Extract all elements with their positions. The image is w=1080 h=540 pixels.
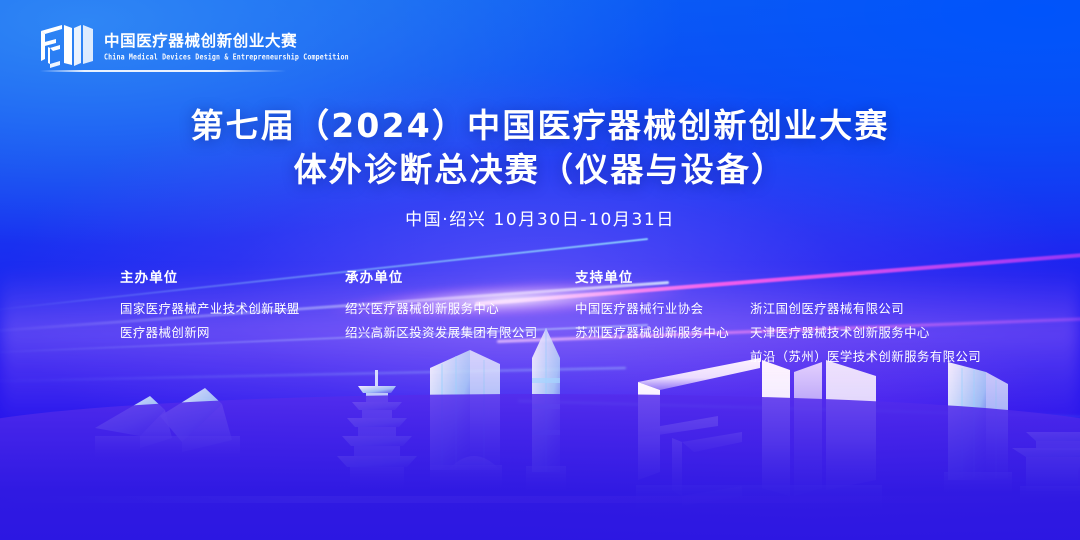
organizer-item: 绍兴医疗器械创新服务中心 [345,297,575,321]
organizer-heading: 承办单位 [345,266,575,286]
hero-titles: 第七届（2024）中国医疗器械创新创业大赛 体外诊断总决赛（仪器与设备） 中国·… [0,104,1080,230]
open-book-door-logo-icon [40,20,94,70]
organizer-column-supporter-extra: 支持单位 浙江国创医疗器械有限公司 天津医疗器械技术创新服务中心 前沿（苏州）医… [750,266,981,369]
brand-name-en: China Medical Devices Design & Entrepren… [104,52,349,62]
event-poster: 中国医疗器械创新创业大赛 China Medical Devices Desig… [0,0,1080,540]
organizer-item: 前沿（苏州）医学技术创新服务有限公司 [750,345,981,369]
organizer-item: 苏州医疗器械创新服务中心 [575,321,750,345]
hero-title-line2: 体外诊断总决赛（仪器与设备） [0,148,1080,192]
brand-name-cn: 中国医疗器械创新创业大赛 [104,29,349,51]
organizer-item: 绍兴高新区投资发展集团有限公司 [345,321,575,345]
organizer-item: 浙江国创医疗器械有限公司 [750,297,981,321]
brand-logo: 中国医疗器械创新创业大赛 China Medical Devices Desig… [40,20,349,70]
hero-location-date: 中国·绍兴 10月30日-10月31日 [0,205,1080,230]
organizer-columns: 主办单位 国家医疗器械产业技术创新联盟 医疗器械创新网 承办单位 绍兴医疗器械创… [0,266,1080,369]
organizer-heading: 主办单位 [120,266,345,286]
organizer-item: 国家医疗器械产业技术创新联盟 [120,297,345,321]
organizer-item: 天津医疗器械技术创新服务中心 [750,321,981,345]
organizer-column-coorganizer: 承办单位 绍兴医疗器械创新服务中心 绍兴高新区投资发展集团有限公司 [345,266,575,369]
organizer-item: 中国医疗器械行业协会 [575,297,750,321]
organizer-heading: 支持单位 [575,266,750,286]
organizer-column-host: 主办单位 国家医疗器械产业技术创新联盟 医疗器械创新网 [120,266,345,369]
foreground-ground [0,394,1080,540]
organizer-column-supporter: 支持单位 中国医疗器械行业协会 苏州医疗器械创新服务中心 [575,266,750,369]
brand-underline [40,70,286,72]
hero-title-line1: 第七届（2024）中国医疗器械创新创业大赛 [0,104,1080,148]
organizer-item: 医疗器械创新网 [120,321,345,345]
